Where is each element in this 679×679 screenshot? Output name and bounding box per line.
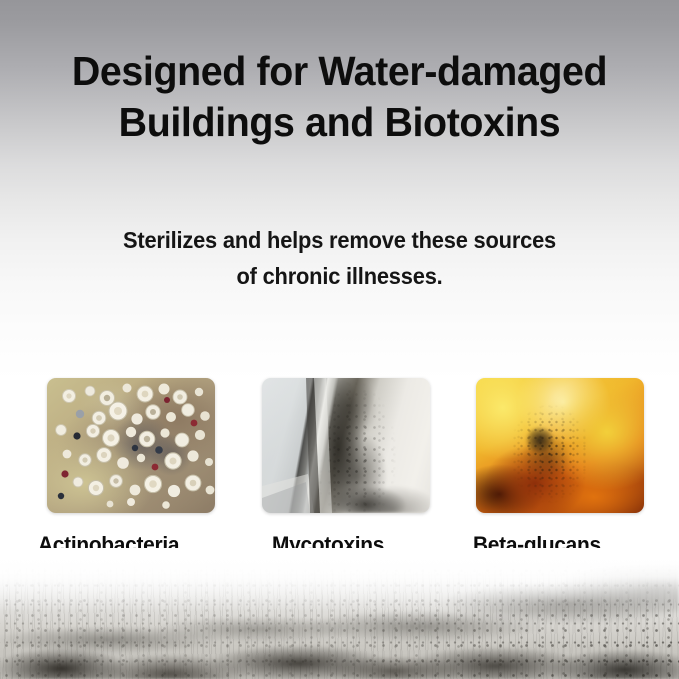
page-title: Designed for Water-damaged Buildings and…: [14, 46, 666, 148]
window-sill-icon: [262, 378, 430, 513]
spore-particle-texture: [476, 378, 644, 513]
footer-mold-texture: [0, 548, 679, 679]
feature-card-row: [47, 378, 644, 513]
page-subtitle: Sterilizes and helps remove these source…: [17, 222, 662, 294]
footer-top-fade: [0, 548, 679, 679]
poster-root: Designed for Water-damaged Buildings and…: [0, 0, 679, 679]
card-mycotoxins: [262, 378, 430, 513]
card-beta-glucans: [476, 378, 644, 513]
card-actinobacteria: [47, 378, 215, 513]
bacterial-colonies-icon: [47, 378, 215, 513]
